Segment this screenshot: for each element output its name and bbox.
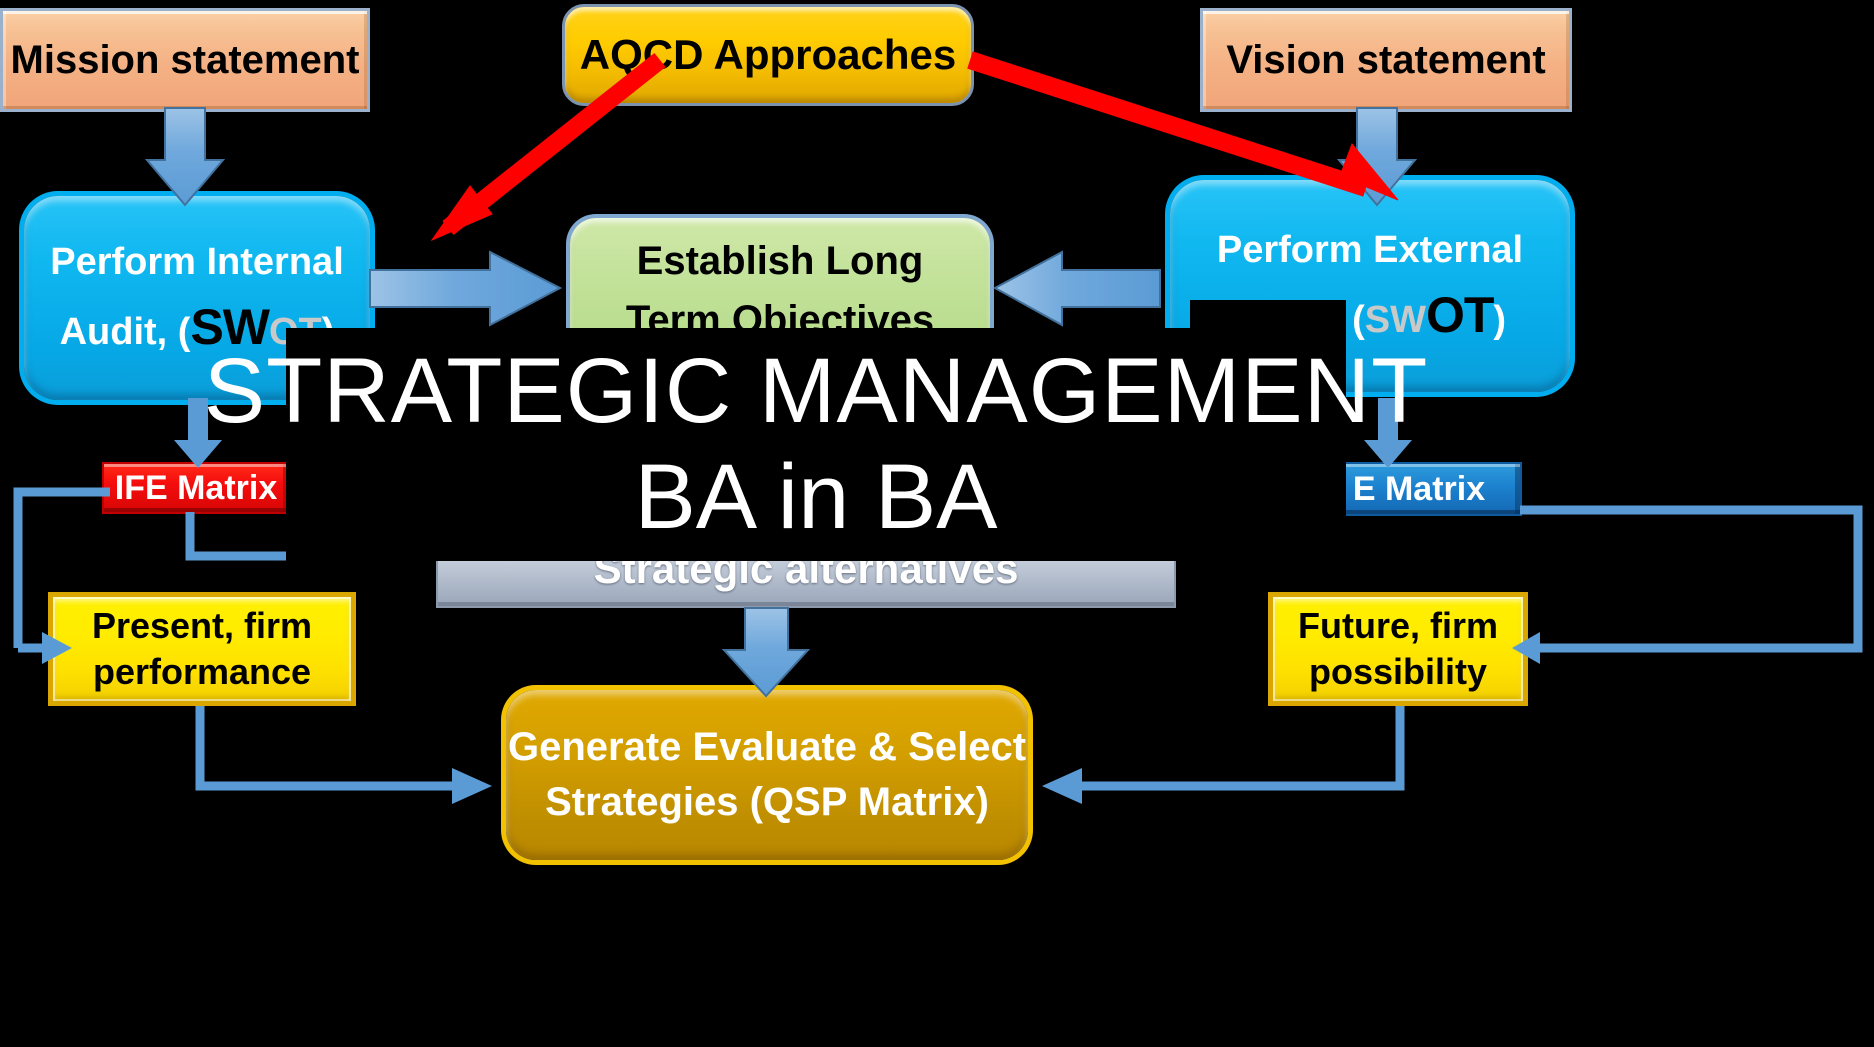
node-future-firm-possibility[interactable]: Future, firm possibility	[1268, 592, 1528, 706]
connector-future-possibility-to-generate	[1042, 706, 1400, 804]
strategic-management-diagram: Mission statement AQCD Approaches Vision…	[0, 0, 1874, 1047]
connector-efe-to-future-possibility	[1512, 510, 1858, 664]
aqcd-approaches-label: AQCD Approaches	[580, 31, 957, 78]
present-performance-line2: performance	[93, 652, 311, 692]
efe-matrix-label: E Matrix	[1353, 470, 1485, 508]
title-line-1: STRATEGIC MANAGEMENT	[204, 345, 1429, 437]
node-efe-matrix[interactable]: E Matrix	[1316, 462, 1522, 516]
node-generate-evaluate-select-strategies[interactable]: Generate Evaluate & Select Strategies (Q…	[506, 690, 1028, 860]
node-present-firm-performance[interactable]: Present, firm performance	[48, 592, 356, 706]
internal-audit-line1: Perform Internal	[50, 241, 344, 284]
internal-audit-prefix: Audit, (	[60, 311, 191, 353]
future-possibility-line1: Future, firm	[1298, 606, 1498, 646]
arrow-strategic-alternatives-to-generate	[724, 608, 808, 696]
connector-present-performance-to-generate	[200, 706, 492, 804]
future-possibility-line2: possibility	[1309, 652, 1487, 692]
title-overlay: STRATEGIC MANAGEMENT BA in BA	[286, 328, 1346, 560]
vision-statement-label: Vision statement	[1226, 38, 1545, 83]
arrow-external-audit-to-objectives	[995, 252, 1160, 325]
external-audit-suffix: )	[1493, 299, 1506, 341]
present-performance-line1: Present, firm	[92, 606, 312, 646]
overlay-edge	[286, 560, 1346, 561]
arrow-internal-audit-to-objectives	[370, 252, 560, 325]
external-audit-sw: SW	[1365, 299, 1426, 341]
node-vision-statement[interactable]: Vision statement	[1200, 8, 1572, 112]
generate-strategies-line2: Strategies (QSP Matrix)	[545, 780, 989, 825]
node-mission-statement[interactable]: Mission statement	[0, 8, 370, 112]
external-audit-ot: OT	[1426, 287, 1493, 343]
node-aqcd-approaches[interactable]: AQCD Approaches	[562, 4, 974, 106]
node-ife-matrix[interactable]: IFE Matrix	[102, 462, 290, 514]
ife-matrix-label: IFE Matrix	[115, 469, 277, 507]
objectives-line1: Establish Long	[637, 239, 924, 284]
generate-strategies-line1: Generate Evaluate & Select	[508, 725, 1026, 770]
arrow-mission-to-internal-audit	[147, 108, 223, 205]
title-line-2: BA in BA	[634, 451, 997, 543]
overlay-occluder-right	[1190, 300, 1346, 330]
mission-statement-label: Mission statement	[11, 38, 360, 83]
external-audit-line1: Perform External	[1217, 229, 1523, 272]
